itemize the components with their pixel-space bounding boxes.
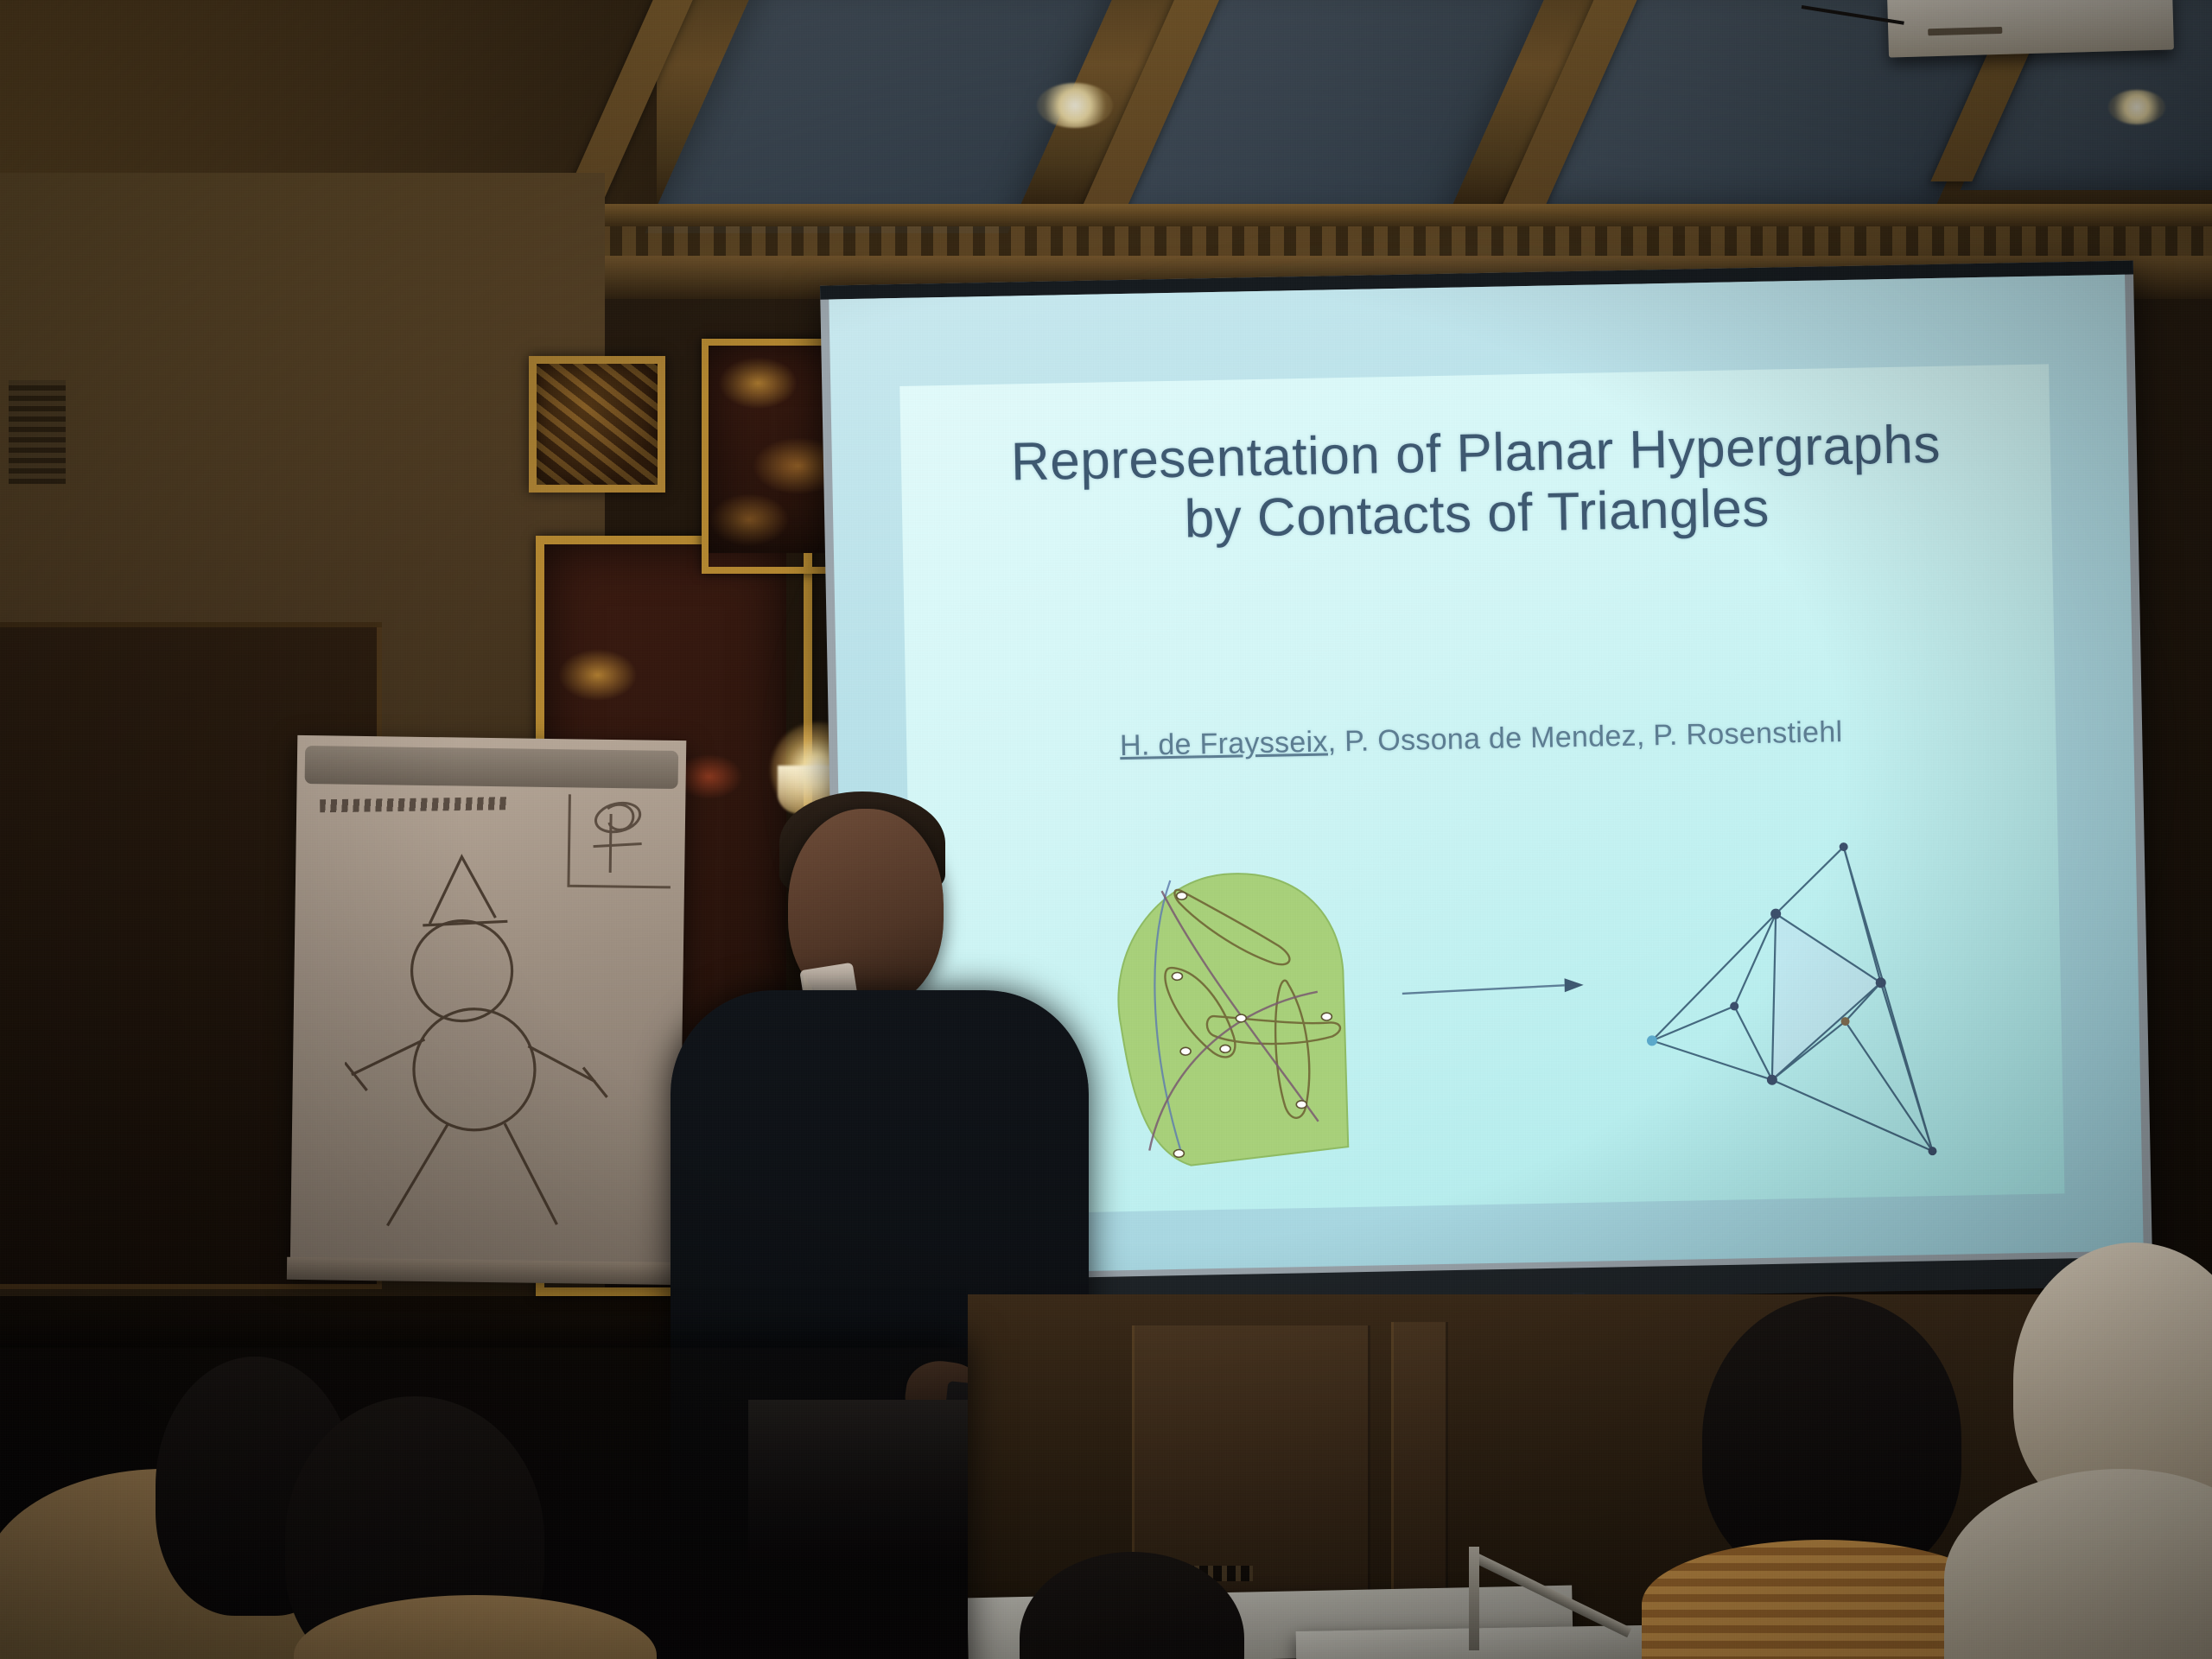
transformation-arrow [1400,969,1591,1007]
wood-panel-b [1391,1322,1448,1607]
recessed-ceiling-light-2 [2108,90,2165,124]
slide-authors: H. de Fraysseix, P. Ossona de Mendez, P.… [906,711,2056,767]
slide-author-presenting: H. de Fraysseix [1120,726,1328,763]
photograph-canvas: Representation of Planar Hypergraphs by … [0,0,2212,1659]
planar-hypergraph-green-region [1078,861,1370,1178]
triangle-contact-representation [1610,824,1962,1185]
flipchart-pad [290,735,687,1276]
audience-head-dark-hair-striped-sweater [1702,1296,1961,1581]
flipchart-header-scribble [320,798,506,813]
equipment-stand-post [1469,1547,1479,1650]
wall-vent-grille [9,380,66,484]
ceiling-speaker-box [1887,0,2174,58]
gilded-panel-texture [537,364,658,485]
presenter-table-secondary [1296,1624,1694,1659]
slide-authors-coauthors: , P. Ossona de Mendez, P. Rosenstiehl [1327,715,1842,758]
gilded-wall-panel [529,356,665,493]
ceiling-box-vent [1928,27,2002,36]
flipchart-paper-roll [305,746,679,788]
recessed-ceiling-light-1 [1037,83,1113,128]
